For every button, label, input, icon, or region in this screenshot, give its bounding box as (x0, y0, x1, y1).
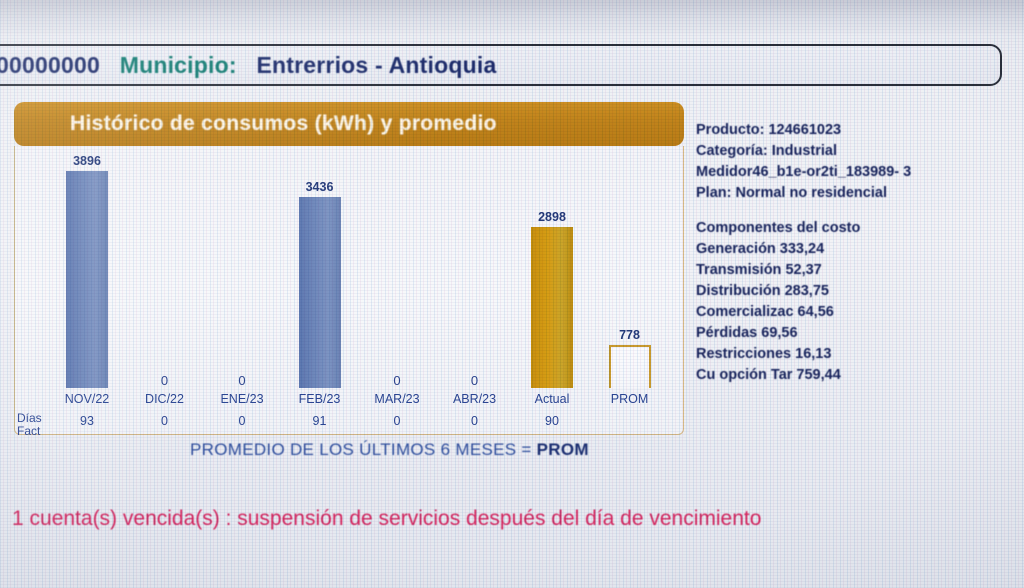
dias-fact-label-line2: Fact (17, 425, 57, 438)
product-info-line-3: Plan: Normal no residencial (696, 183, 1018, 204)
bar-column: 3896 (55, 154, 119, 388)
dias-fact-value-3: 91 (288, 414, 352, 428)
cost-component-1: Transmisión 52,37 (696, 260, 1018, 281)
overdue-warning: 1 cuenta(s) vencida(s) : suspensión de s… (12, 505, 992, 533)
x-axis-label-5: ABR/23 (443, 392, 507, 406)
cost-component-3: Comercializac 64,56 (696, 302, 1018, 323)
cost-component-2: Distribución 283,75 (696, 281, 1018, 302)
chart-caption-text: PROMEDIO DE LOS ÚLTIMOS 6 MESES = (190, 440, 537, 459)
municipality-label: Municipio: (120, 52, 237, 78)
bar-actual (531, 227, 573, 388)
bar-value-label: 0 (443, 373, 507, 388)
product-info-line-0: Producto: 124661023 (696, 120, 1018, 141)
x-axis-label-3: FEB/23 (288, 392, 352, 406)
chart-caption: PROMEDIO DE LOS ÚLTIMOS 6 MESES = PROM (190, 440, 589, 460)
bar-value-label: 778 (598, 328, 662, 342)
bar-column: 0 (365, 154, 429, 388)
dias-fact-value-6: 90 (520, 414, 584, 428)
x-axis-labels: NOV/22DIC/22ENE/23FEB/23MAR/23ABR/23Actu… (55, 392, 675, 410)
bar-column: 2898 (520, 154, 584, 388)
bar-value-label: 0 (133, 373, 197, 388)
cost-component-0: Generación 333,24 (696, 239, 1018, 260)
cost-component-5: Restricciones 16,13 (696, 344, 1018, 365)
bar-column: 778 (598, 154, 662, 388)
screen-photo: 00000000 Municipio: Entrerrios - Antioqu… (0, 0, 1024, 588)
chart-caption-bold: PROM (537, 440, 589, 459)
bar-column: 3436 (288, 154, 352, 388)
chart-plot-area: 3896003436002898778 Días Fact NOV/22DIC/… (14, 146, 684, 435)
product-info-line-1: Categoría: Industrial (696, 141, 1018, 162)
page-bottom-cutoff (6, 576, 426, 588)
bar-column: 0 (443, 154, 507, 388)
dias-fact-value-1: 0 (133, 414, 197, 428)
consumption-chart-panel: Histórico de consumos (kWh) y promedio 3… (6, 102, 684, 437)
x-axis-label-1: DIC/22 (133, 392, 197, 406)
chart-title-bar: Histórico de consumos (kWh) y promedio (14, 102, 684, 146)
bar-value-label: 0 (210, 373, 274, 388)
product-info-panel: Producto: 124661023Categoría: Industrial… (696, 120, 1018, 400)
screen-top-edge (0, 0, 1024, 34)
dias-fact-value-0: 93 (55, 414, 119, 428)
x-axis-label-0: NOV/22 (55, 392, 119, 406)
dias-fact-value-4: 0 (365, 414, 429, 428)
account-header-bar: 00000000 Municipio: Entrerrios - Antioqu… (0, 44, 1002, 86)
cost-components-group: Componentes del costoGeneración 333,24Tr… (696, 218, 1018, 386)
x-axis-label-6: Actual (520, 392, 584, 406)
dias-fact-value-5: 0 (443, 414, 507, 428)
bar-value-label: 3436 (288, 180, 352, 194)
bar-value-label: 0 (365, 373, 429, 388)
dias-fact-value-2: 0 (210, 414, 274, 428)
account-number: 00000000 (0, 52, 100, 78)
bars-container: 3896003436002898778 (55, 154, 675, 388)
account-header-text: 00000000 Municipio: Entrerrios - Antioqu… (0, 52, 496, 79)
dias-fact-label: Días Fact (17, 412, 57, 438)
dias-fact-values: 9300910090 (55, 414, 675, 432)
cost-component-6: Cu opción Tar 759,44 (696, 365, 1018, 386)
x-axis-label-7: PROM (598, 392, 662, 406)
bar-value-label: 2898 (520, 210, 584, 224)
chart-title: Histórico de consumos (kWh) y promedio (14, 112, 497, 136)
product-identity-group: Producto: 124661023Categoría: Industrial… (696, 120, 1018, 204)
bar-value-label: 3896 (55, 154, 119, 168)
bar-nov-22 (66, 171, 108, 388)
bar-feb-23 (299, 197, 341, 388)
cost-components-heading: Componentes del costo (696, 218, 1018, 239)
cost-component-4: Pérdidas 69,56 (696, 323, 1018, 344)
bar-prom (609, 345, 651, 388)
bar-column: 0 (210, 154, 274, 388)
x-axis-label-2: ENE/23 (210, 392, 274, 406)
x-axis-label-4: MAR/23 (365, 392, 429, 406)
bar-column: 0 (133, 154, 197, 388)
municipality-value: Entrerrios - Antioquia (256, 52, 496, 78)
product-info-line-2: Medidor46_b1e-or2ti_183989- 3 (696, 162, 1018, 183)
